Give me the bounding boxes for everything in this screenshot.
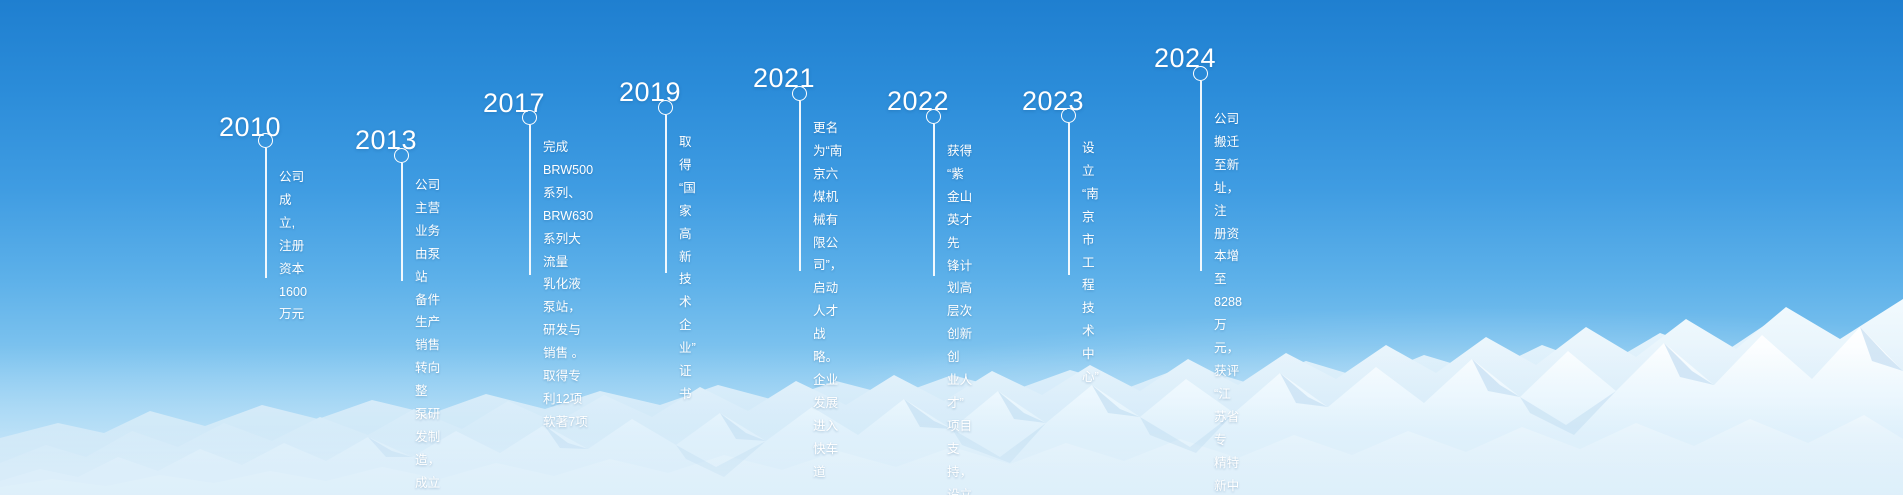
milestone-description: 取得“国家高新技术 企业”证书 <box>679 131 696 406</box>
milestone-description: 公司主营业务由泵站 备件生产销售转向整 泵研发制造，成立产 品研发中心.公司注册… <box>415 174 443 495</box>
timeline-infographic: 2010公司成立,注册资本 1600万元2013公司主营业务由泵站 备件生产销售… <box>0 0 1903 495</box>
milestone-year: 2021 <box>753 65 815 92</box>
milestone-year: 2022 <box>887 88 949 115</box>
milestone-stem <box>799 101 801 271</box>
milestone-marker-icon <box>658 100 673 115</box>
milestone-marker-icon <box>792 86 807 101</box>
milestone-stem <box>529 125 531 275</box>
milestone-stem <box>1200 81 1202 271</box>
milestone-description: 完成BRW500系列、 BRW630系列大流量 乳化液泵站，研发与 销售 。取得… <box>543 136 593 434</box>
milestone-description: 获得“紫金山英才先 锋计划高层次创新创 业人才”项目支持， 设立“南京市企业专 … <box>947 140 972 495</box>
milestone-marker-icon <box>522 110 537 125</box>
milestone-marker-icon <box>926 109 941 124</box>
milestone-stem <box>665 115 667 273</box>
milestone-stem <box>933 124 935 276</box>
milestone-year: 2019 <box>619 79 681 106</box>
milestone-marker-icon <box>1193 66 1208 81</box>
milestone-marker-icon <box>1061 108 1076 123</box>
milestone-description: 更名为“南京六煤机 械有限公司”，启动 人才战略。企业发展 进入快车道 <box>813 117 842 484</box>
milestone-year: 2013 <box>355 127 417 154</box>
milestone-stem <box>1068 123 1070 275</box>
milestone-stem <box>265 148 267 278</box>
milestone-stem <box>401 163 403 281</box>
milestone-description: 公司搬迁至新址，注 册资本增至8288万 元，获评“江苏省专 精特新中小 企业” <box>1214 108 1242 495</box>
milestone-marker-icon <box>258 133 273 148</box>
milestone-description: 设立“南京市工程技 术中心” <box>1082 137 1099 389</box>
timeline: 2010公司成立,注册资本 1600万元2013公司主营业务由泵站 备件生产销售… <box>0 0 1903 495</box>
milestone-marker-icon <box>394 148 409 163</box>
milestone-description: 公司成立,注册资本 1600万元 <box>279 166 307 326</box>
milestone-year: 2024 <box>1154 45 1216 72</box>
